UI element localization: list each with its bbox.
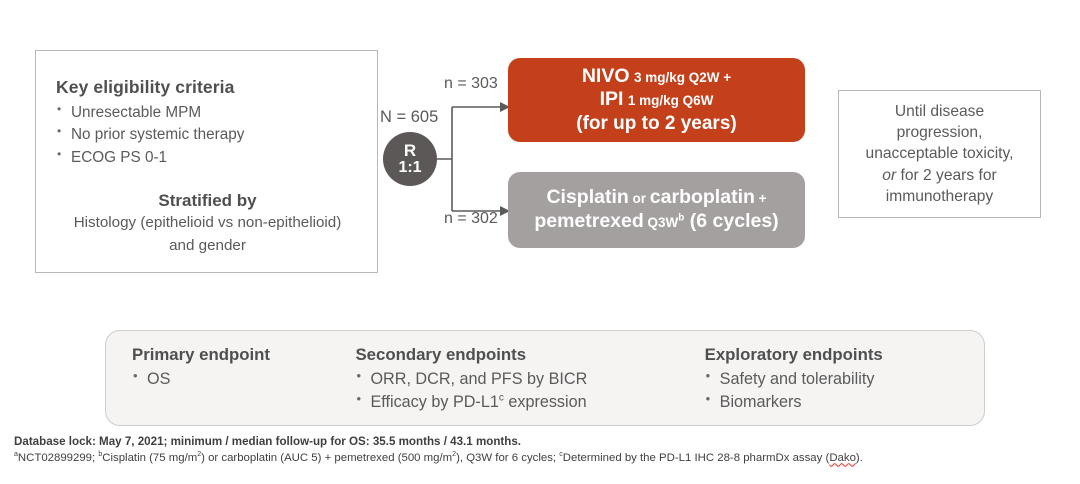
drug-name-pemetrexed: pemetrexed	[534, 210, 643, 232]
treatment-duration-line-5: immunotherapy	[886, 188, 993, 205]
footnote-dako-misspelled: Dako	[829, 452, 856, 464]
arm-chemo-text: Cisplatin or carboplatin + pemetrexed Q3…	[534, 186, 778, 234]
exploratory-endpoints-column: Exploratory endpoints Safety and tolerab…	[705, 345, 984, 425]
primary-endpoints-title: Primary endpoint	[132, 345, 355, 365]
drug-dose-nivo: 3 mg/kg Q2W +	[634, 70, 731, 85]
arm-nivo-ipi-duration: (for up to 2 years)	[576, 112, 736, 135]
list-item: Unresectable MPM	[56, 102, 359, 124]
list-item: ORR, DCR, and PFS by BICR	[355, 368, 704, 391]
arm-b-sample-size: n = 302	[444, 210, 498, 228]
arm-nivo-ipi-text: NIVO 3 mg/kg Q2W + IPI 1 mg/kg Q6W (for …	[576, 65, 736, 136]
drug-name-cisplatin: Cisplatin	[546, 186, 628, 208]
eligibility-criteria-list: Unresectable MPM No prior systemic thera…	[56, 102, 359, 169]
randomization-group: N = 605 R 1:1 n = 303 n = 302	[378, 50, 508, 273]
trial-design-diagram: Key eligibility criteria Unresectable MP…	[0, 0, 1080, 484]
treatment-duration-text: Until disease progression, unacceptable …	[866, 101, 1014, 207]
primary-endpoints-list: OS	[132, 368, 355, 391]
secondary-endpoints-title: Secondary endpoints	[355, 345, 704, 365]
chemo-schedule: Q3W	[644, 215, 679, 230]
list-item: Efficacy by PD-L1c expression	[355, 391, 704, 414]
drug-name-ipi: IPI	[600, 88, 624, 110]
drug-name-carboplatin: carboplatin	[650, 186, 755, 208]
arm-a-sample-size: n = 303	[444, 75, 498, 93]
stratification-title: Stratified by	[56, 191, 359, 211]
treatment-duration-line-3: unacceptable toxicity,	[866, 145, 1014, 162]
eligibility-title: Key eligibility criteria	[56, 77, 359, 98]
arm-chemo-line-1: Cisplatin or carboplatin +	[534, 186, 778, 210]
footnote-text-c-part-1: Determined by the PD-L1 IHC 28-8 pharmDx…	[563, 452, 830, 464]
footnote-text-b-part-2: ) or carboplatin (AUC 5) + pemetrexed (5…	[201, 452, 452, 464]
footnotes: Database lock: May 7, 2021; minimum / me…	[14, 433, 1064, 468]
list-item: Biomarkers	[705, 391, 984, 414]
list-item: OS	[132, 368, 355, 391]
treatment-arm-chemotherapy: Cisplatin or carboplatin + pemetrexed Q3…	[508, 172, 805, 248]
eligibility-content: Key eligibility criteria Unresectable MP…	[36, 51, 377, 256]
endpoints-panel: Primary endpoint OS Secondary endpoints …	[105, 330, 985, 426]
drug-dose-ipi: 1 mg/kg Q6W	[628, 93, 714, 108]
footnote-references: aNCT02899299; bCisplatin (75 mg/m2) or c…	[14, 450, 1064, 467]
list-item: No prior systemic therapy	[56, 124, 359, 146]
exploratory-endpoints-title: Exploratory endpoints	[705, 345, 984, 365]
footnote-text-c-part-2: ).	[856, 452, 863, 464]
list-item: ECOG PS 0-1	[56, 147, 359, 169]
drug-name-nivo: NIVO	[582, 65, 630, 87]
footnote-text-b-part-3: ), Q3W for 6 cycles;	[456, 452, 559, 464]
eligibility-criteria-box: Key eligibility criteria Unresectable MP…	[35, 50, 378, 273]
treatment-arm-nivo-ipi: NIVO 3 mg/kg Q2W + IPI 1 mg/kg Q6W (for …	[508, 58, 805, 142]
stratification-factor-histology: Histology (epithelioid vs non-epithelioi…	[56, 213, 359, 234]
chemo-plus-sign: +	[755, 191, 767, 206]
chemo-cycles: (6 cycles)	[684, 210, 778, 232]
list-item: Safety and tolerability	[705, 368, 984, 391]
randomization-letter: R	[404, 142, 416, 159]
secondary-endpoints-column: Secondary endpoints ORR, DCR, and PFS by…	[355, 345, 704, 425]
treatment-duration-line-1: Until disease	[895, 103, 984, 120]
treatment-duration-or: or	[882, 167, 896, 184]
arm-chemo-line-2: pemetrexed Q3Wb (6 cycles)	[534, 210, 778, 234]
randomization-circle: R 1:1	[383, 132, 437, 186]
secondary-endpoints-list: ORR, DCR, and PFS by BICR Efficacy by PD…	[355, 368, 704, 415]
treatment-duration-line-4: for 2 years for	[896, 167, 997, 184]
footnote-text-a: NCT02899299;	[18, 452, 98, 464]
treatment-duration-box: Until disease progression, unacceptable …	[838, 90, 1041, 218]
footnote-text-b-part-1: Cisplatin (75 mg/m	[102, 452, 197, 464]
randomization-ratio: 1:1	[398, 160, 421, 176]
secondary-endpoint-efficacy-text: Efficacy by PD-L1	[370, 393, 498, 411]
primary-endpoints-column: Primary endpoint OS	[106, 345, 355, 425]
arm-nivo-ipi-line-1: NIVO 3 mg/kg Q2W +	[576, 65, 736, 89]
exploratory-endpoints-list: Safety and tolerability Biomarkers	[705, 368, 984, 415]
chemo-connector-or: or	[629, 191, 650, 206]
arm-nivo-ipi-line-2: IPI 1 mg/kg Q6W	[576, 88, 736, 112]
footnote-database-lock: Database lock: May 7, 2021; minimum / me…	[14, 433, 1064, 450]
treatment-duration-line-2: progression,	[897, 124, 983, 141]
stratification-factor-gender: and gender	[56, 236, 359, 257]
secondary-endpoint-efficacy-suffix: expression	[504, 393, 587, 411]
